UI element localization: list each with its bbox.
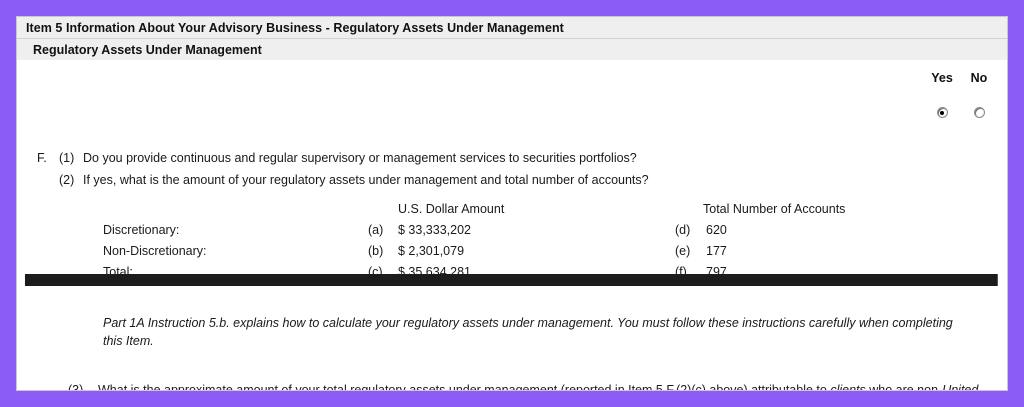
yes-label: Yes: [930, 71, 954, 85]
yes-no-radio-group[interactable]: [930, 107, 991, 118]
page-title: Item 5 Information About Your Advisory B…: [17, 17, 1007, 39]
table-header-row: U.S. Dollar Amount Total Number of Accou…: [17, 199, 1007, 220]
question-3-body: What is the approximate amount of your t…: [98, 381, 998, 391]
question-2-number: (2): [59, 173, 83, 187]
redaction-bar: [25, 274, 998, 286]
row-dollar-value: $ 2,301,079: [398, 241, 464, 262]
table-row: Discretionary: (a) $ 33,333,202 (d) 620: [17, 220, 1007, 241]
yes-no-column-headers: Yes No: [930, 71, 991, 85]
section-header: Regulatory Assets Under Management: [17, 39, 1007, 61]
question-1: (1) Do you provide continuous and regula…: [59, 151, 637, 165]
row-label: Discretionary:: [103, 220, 179, 241]
question-3-italic-clients: clients: [830, 383, 865, 391]
question-3-text-part2: who are non-: [866, 383, 942, 391]
question-3-text-part1: What is the approximate amount of your t…: [98, 383, 830, 391]
row-accounts-value: 620: [706, 220, 727, 241]
row-dollar-key: (b): [368, 241, 394, 262]
radio-no-cell[interactable]: [967, 107, 991, 118]
question-2-text: If yes, what is the amount of your regul…: [83, 173, 649, 187]
row-accounts-key: (e): [675, 241, 701, 262]
form-panel: Item 5 Information About Your Advisory B…: [16, 16, 1008, 391]
row-label: Non-Discretionary:: [103, 241, 207, 262]
column-header-dollar: U.S. Dollar Amount: [398, 199, 504, 220]
question-1-number: (1): [59, 151, 83, 165]
radio-no[interactable]: [974, 107, 985, 118]
question-2: (2) If yes, what is the amount of your r…: [59, 173, 649, 187]
question-3: (3) What is the approximate amount of yo…: [68, 381, 998, 391]
question-1-text: Do you provide continuous and regular su…: [83, 151, 637, 165]
assets-table: U.S. Dollar Amount Total Number of Accou…: [17, 199, 1007, 283]
row-dollar-key: (a): [368, 220, 394, 241]
column-header-accounts: Total Number of Accounts: [703, 199, 845, 220]
row-accounts-key: (d): [675, 220, 701, 241]
section-letter: F.: [37, 151, 47, 165]
table-row: Non-Discretionary: (b) $ 2,301,079 (e) 1…: [17, 241, 1007, 262]
radio-yes[interactable]: [937, 107, 948, 118]
row-accounts-value: 177: [706, 241, 727, 262]
row-dollar-value: $ 33,333,202: [398, 220, 471, 241]
instruction-note: Part 1A Instruction 5.b. explains how to…: [103, 314, 971, 350]
question-3-number: (3): [68, 381, 92, 391]
radio-yes-cell[interactable]: [930, 107, 954, 118]
no-label: No: [967, 71, 991, 85]
